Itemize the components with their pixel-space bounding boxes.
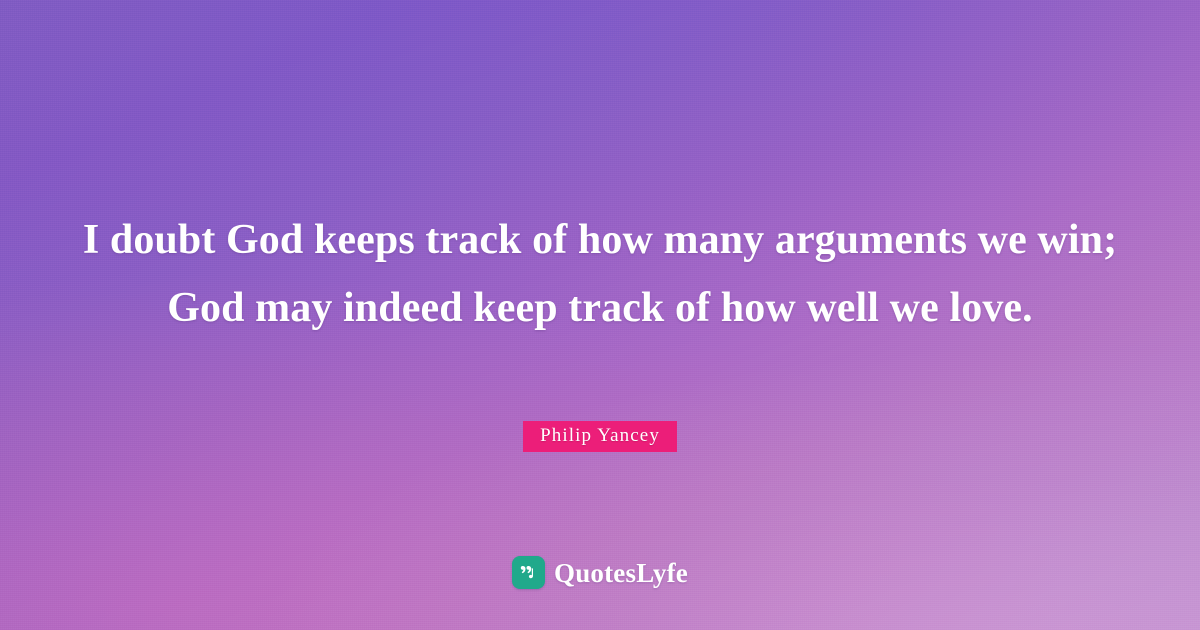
quote-mark-icon bbox=[512, 556, 545, 589]
quote-text: I doubt God keeps track of how many argu… bbox=[80, 206, 1120, 342]
brand-name: QuotesLyfe bbox=[554, 558, 688, 588]
author-badge: Philip Yancey bbox=[523, 421, 677, 452]
quote-card: I doubt God keeps track of how many argu… bbox=[0, 0, 1200, 630]
card-content: I doubt God keeps track of how many argu… bbox=[0, 0, 1200, 630]
author-badge-container: Philip Yancey bbox=[0, 421, 1200, 452]
brand-logo: QuotesLyfe bbox=[0, 556, 1200, 589]
